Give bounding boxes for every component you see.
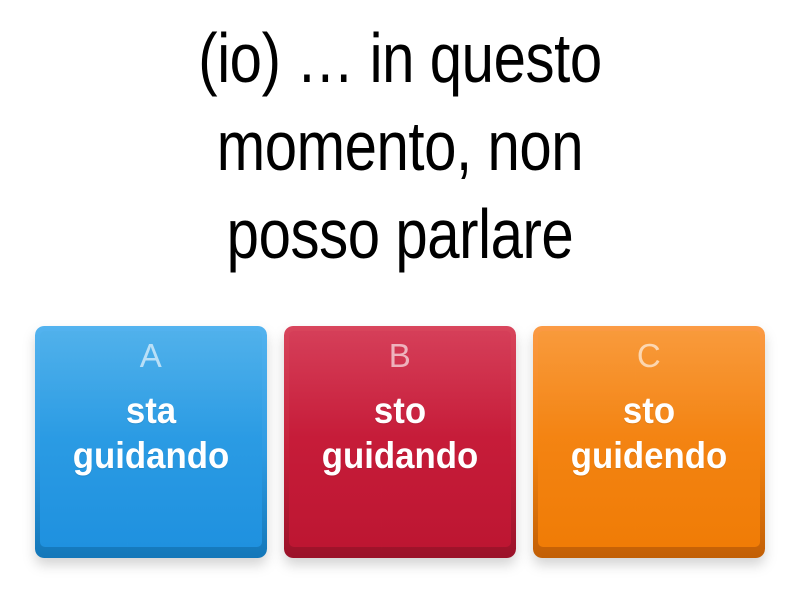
answer-card-content: C sto guidendo: [533, 326, 765, 558]
answer-letter-a: A: [140, 337, 163, 374]
question-text: (io) … in questo momento, non posso parl…: [134, 14, 665, 278]
answer-label-b: sto guidando: [296, 388, 505, 478]
answer-letter-b: B: [389, 337, 412, 374]
answer-card-b[interactable]: B sto guidando: [284, 326, 516, 558]
question-area: (io) … in questo momento, non posso parl…: [0, 14, 800, 304]
answer-card-a[interactable]: A sta guidando: [35, 326, 267, 558]
answer-options-list: A sta guidando B sto guidando C sto guid…: [0, 326, 800, 576]
answer-label-a: sta guidando: [47, 388, 256, 478]
answer-letter-c: C: [637, 337, 661, 374]
answer-card-c[interactable]: C sto guidendo: [533, 326, 765, 558]
answer-card-content: A sta guidando: [35, 326, 267, 558]
answer-label-c: sto guidendo: [545, 388, 754, 478]
answer-card-content: B sto guidando: [284, 326, 516, 558]
quiz-root: (io) … in questo momento, non posso parl…: [0, 0, 800, 600]
